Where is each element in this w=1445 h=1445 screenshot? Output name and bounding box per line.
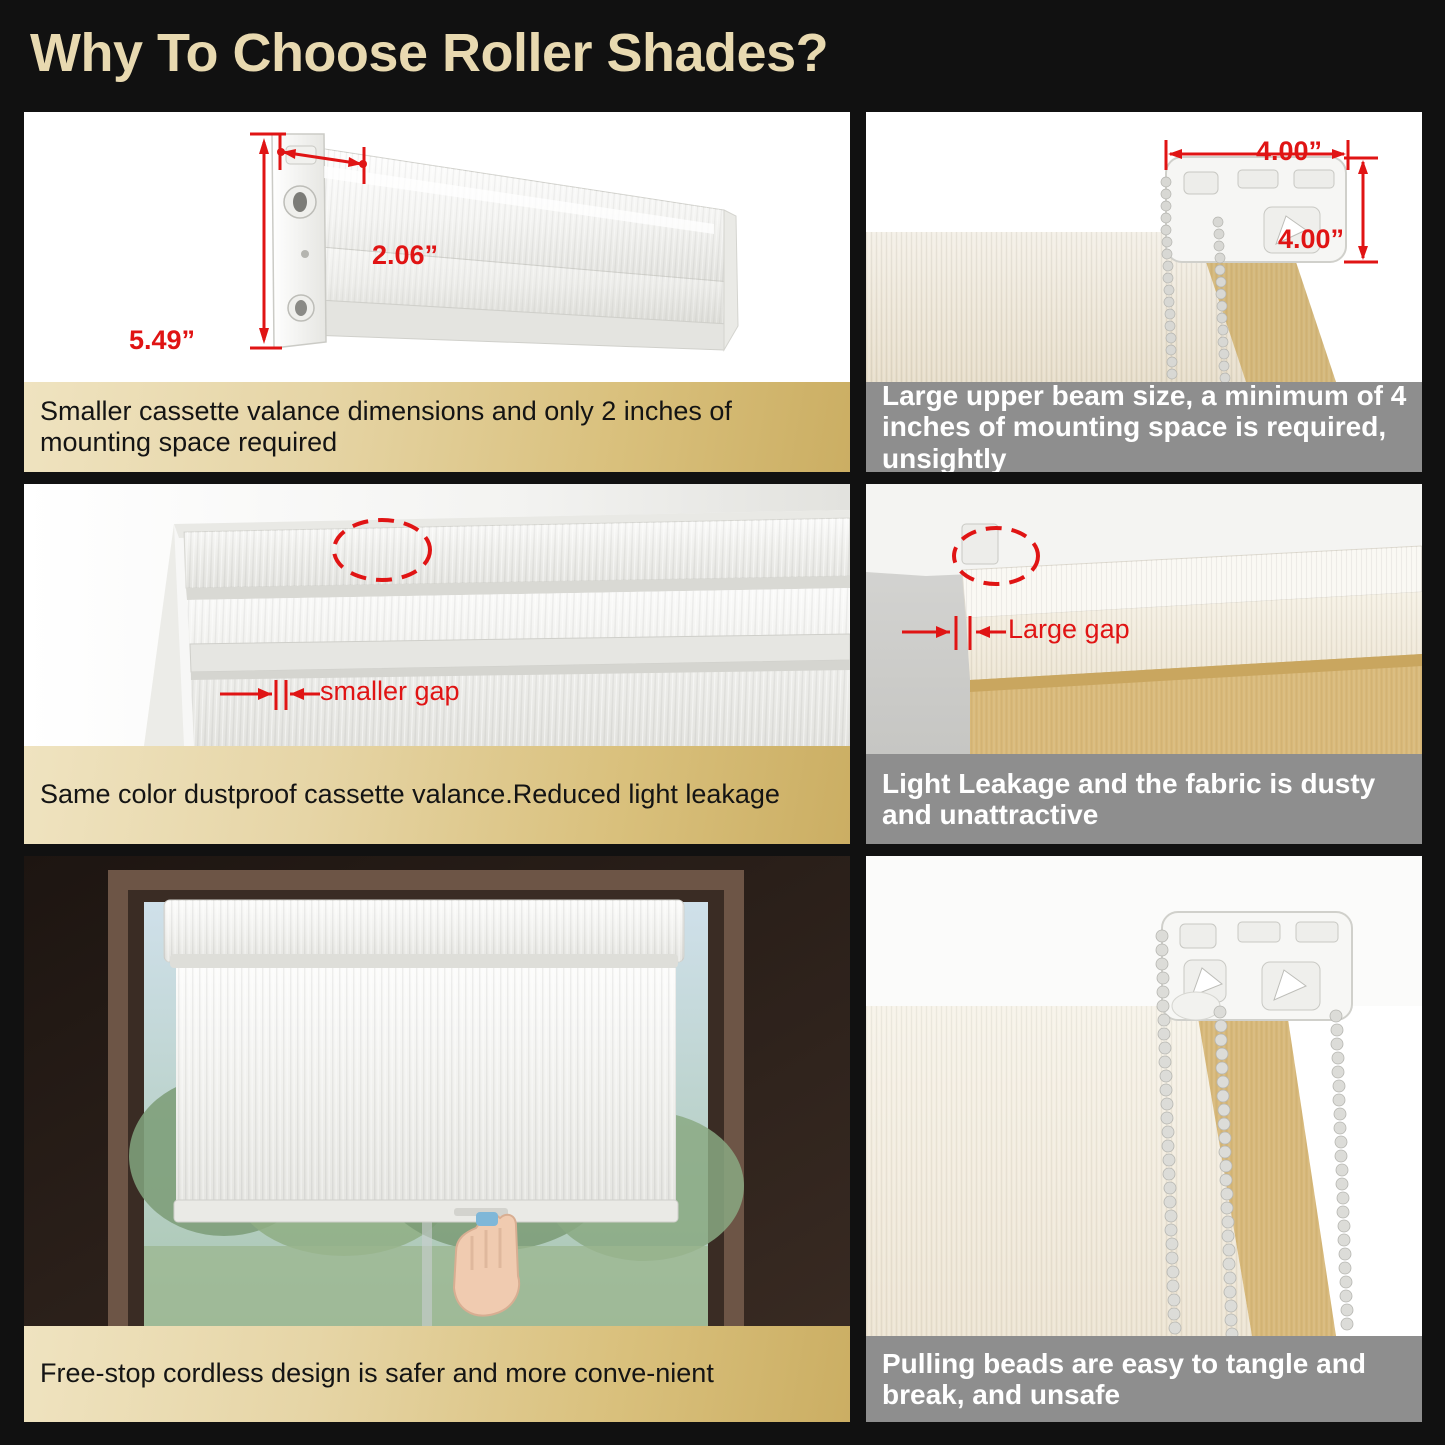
card-cordless-design: Free-stop cordless design is safer and m… <box>24 856 850 1422</box>
infographic-page: Why To Choose Roller Shades? <box>0 0 1445 1445</box>
card-light-leakage: Large gap Light Leakage and the fabric i… <box>866 484 1422 844</box>
page-title: Why To Choose Roller Shades? <box>30 22 828 84</box>
card-dustproof-cassette-valance: smaller gap Same color dustproof cassett… <box>24 484 850 844</box>
card-1-photo: 2.06” 5.49” <box>24 112 850 382</box>
card-cassette-valance-dimensions: 2.06” 5.49” Smaller cassette valance dim… <box>24 112 850 472</box>
card-5-photo <box>24 856 850 1326</box>
card-3-gap-label: smaller gap <box>320 676 460 707</box>
card-4-gap-label: Large gap <box>1008 614 1130 645</box>
card-6-photo <box>866 856 1422 1336</box>
light-leakage-illustration <box>866 484 1422 754</box>
card-1-width-dimension: 2.06” <box>372 240 438 271</box>
card-1-caption: Smaller cassette valance dimensions and … <box>24 382 850 472</box>
card-2-caption: Large upper beam size, a minimum of 4 in… <box>866 382 1422 472</box>
cordless-shade-window-photo <box>24 856 850 1326</box>
card-4-caption: Light Leakage and the fabric is dusty an… <box>866 754 1422 844</box>
card-2-width-dimension: 4.00” <box>1256 136 1322 167</box>
card-5-caption: Free-stop cordless design is safer and m… <box>24 1326 850 1422</box>
card-large-upper-beam: 4.00” 4.00” Large upper beam size, a min… <box>866 112 1422 472</box>
card-3-photo: smaller gap <box>24 484 850 746</box>
card-2-photo: 4.00” 4.00” <box>866 112 1422 382</box>
pulling-beads-illustration <box>866 856 1422 1336</box>
card-pulling-beads: Pulling beads are easy to tangle and bre… <box>866 856 1422 1422</box>
card-3-caption: Same color dustproof cassette valance.Re… <box>24 746 850 844</box>
card-6-caption: Pulling beads are easy to tangle and bre… <box>866 1336 1422 1422</box>
card-2-height-dimension: 4.00” <box>1278 224 1344 255</box>
card-4-photo: Large gap <box>866 484 1422 754</box>
card-1-height-dimension: 5.49” <box>129 325 195 356</box>
